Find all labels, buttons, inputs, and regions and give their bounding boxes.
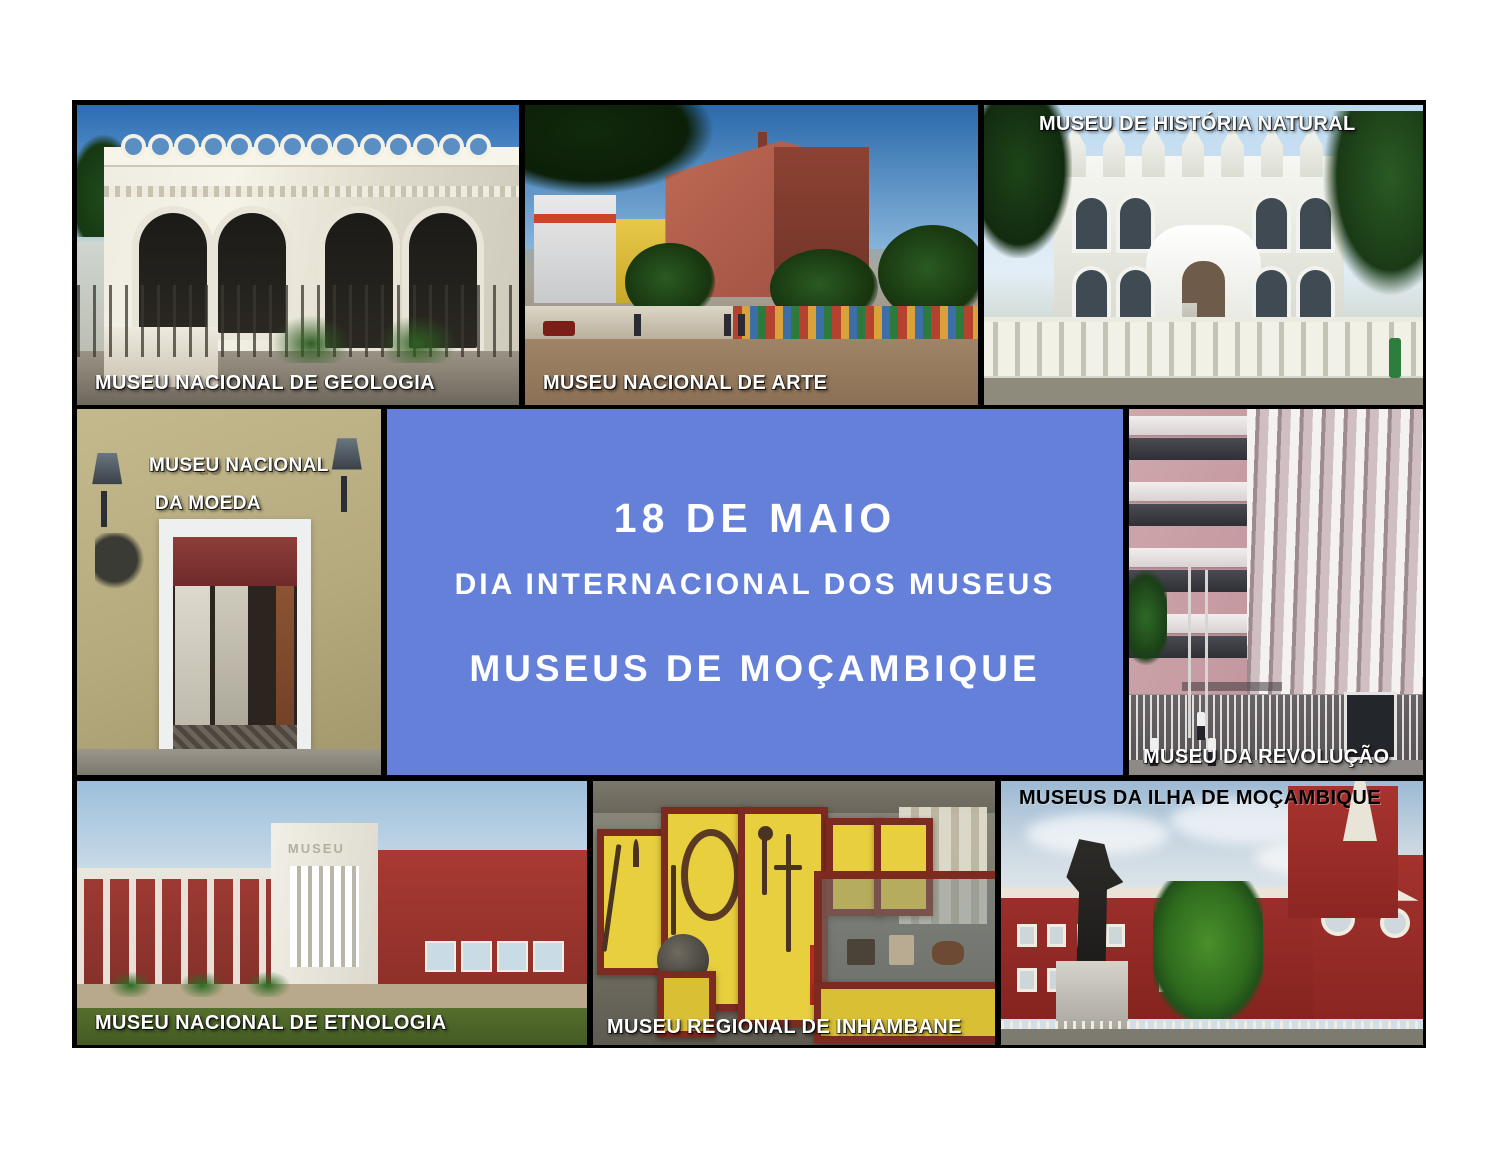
side-building bbox=[534, 195, 616, 303]
photo-cell-arte: MUSEU NACIONAL DE ARTE bbox=[525, 105, 978, 405]
pavement bbox=[1129, 760, 1423, 775]
tree bbox=[1153, 881, 1263, 1018]
mural bbox=[733, 306, 978, 339]
square-ground bbox=[1001, 1029, 1423, 1045]
photo-image-geologia bbox=[77, 105, 519, 405]
street-lamp-left bbox=[92, 453, 126, 527]
ground bbox=[984, 378, 1423, 405]
tree bbox=[1129, 570, 1167, 665]
building-sign bbox=[1182, 682, 1282, 691]
photo-image-revolucao bbox=[1129, 409, 1423, 775]
path bbox=[77, 984, 587, 1008]
photo-cell-inhambane: MUSEU REGIONAL DE INHAMBANE bbox=[593, 781, 995, 1045]
palm-tree bbox=[1322, 111, 1423, 297]
building-sign-text: MUSEU bbox=[288, 841, 345, 856]
entrance-tower: MUSEU bbox=[271, 823, 378, 987]
panel-line-title: MUSEUS DE MOÇAMBIQUE bbox=[469, 648, 1040, 690]
panel-line-date: 18 DE MAIO bbox=[614, 495, 896, 542]
wall-lettering: do bbox=[199, 457, 222, 481]
panel-line-subtitle: DIA INTERNACIONAL DOS MUSEUS bbox=[455, 568, 1056, 602]
entrance-door bbox=[1344, 692, 1397, 760]
photo-cell-historia-natural: MUSEU DE HISTÓRIA NATURAL bbox=[984, 105, 1423, 405]
photo-image-historia-natural bbox=[984, 105, 1423, 405]
photo-image-arte bbox=[525, 105, 978, 405]
red-block bbox=[363, 850, 587, 998]
photo-image-etnologia: MUSEU bbox=[77, 781, 587, 1045]
photo-cell-revolucao: MUSEU DA REVOLUÇÃO bbox=[1129, 409, 1423, 775]
iron-bracket bbox=[95, 533, 144, 599]
photo-cell-etnologia: MUSEU MUSEU NACIONAL DE ETNOLOGIA bbox=[77, 781, 587, 1045]
display-panel-low bbox=[657, 971, 715, 1038]
photo-image-ilha-de-mocambique bbox=[1001, 781, 1423, 1045]
title-panel: 18 DE MAIO DIA INTERNACIONAL DOS MUSEUS … bbox=[387, 409, 1123, 775]
tree-canopy bbox=[525, 105, 715, 195]
balustrade bbox=[984, 317, 1423, 381]
horn-instrument bbox=[681, 829, 741, 921]
museum-collage: MUSEU NACIONAL DE GEOLOGIA MUSEU NACIONA… bbox=[72, 100, 1426, 1048]
photo-image-inhambane bbox=[593, 781, 995, 1045]
photo-cell-ilha-de-mocambique: MUSEUS DA ILHA DE MOÇAMBIQUE bbox=[1001, 781, 1423, 1045]
brise-soleil-fins bbox=[1247, 409, 1423, 694]
photo-image-moeda: do bbox=[77, 409, 381, 775]
photo-cell-moeda: do MUSEU NACIONAL DA MOEDA bbox=[77, 409, 381, 775]
church-spire bbox=[1343, 781, 1377, 841]
visitor bbox=[1389, 338, 1401, 378]
tree-left bbox=[984, 105, 1072, 258]
photo-cell-geologia: MUSEU NACIONAL DE GEOLOGIA bbox=[77, 105, 519, 405]
display-panel-6 bbox=[814, 982, 995, 1044]
road bbox=[525, 339, 978, 405]
street-lamp-right bbox=[332, 438, 366, 512]
doorway bbox=[173, 537, 298, 760]
cornice bbox=[104, 186, 519, 197]
pavement bbox=[77, 749, 381, 775]
